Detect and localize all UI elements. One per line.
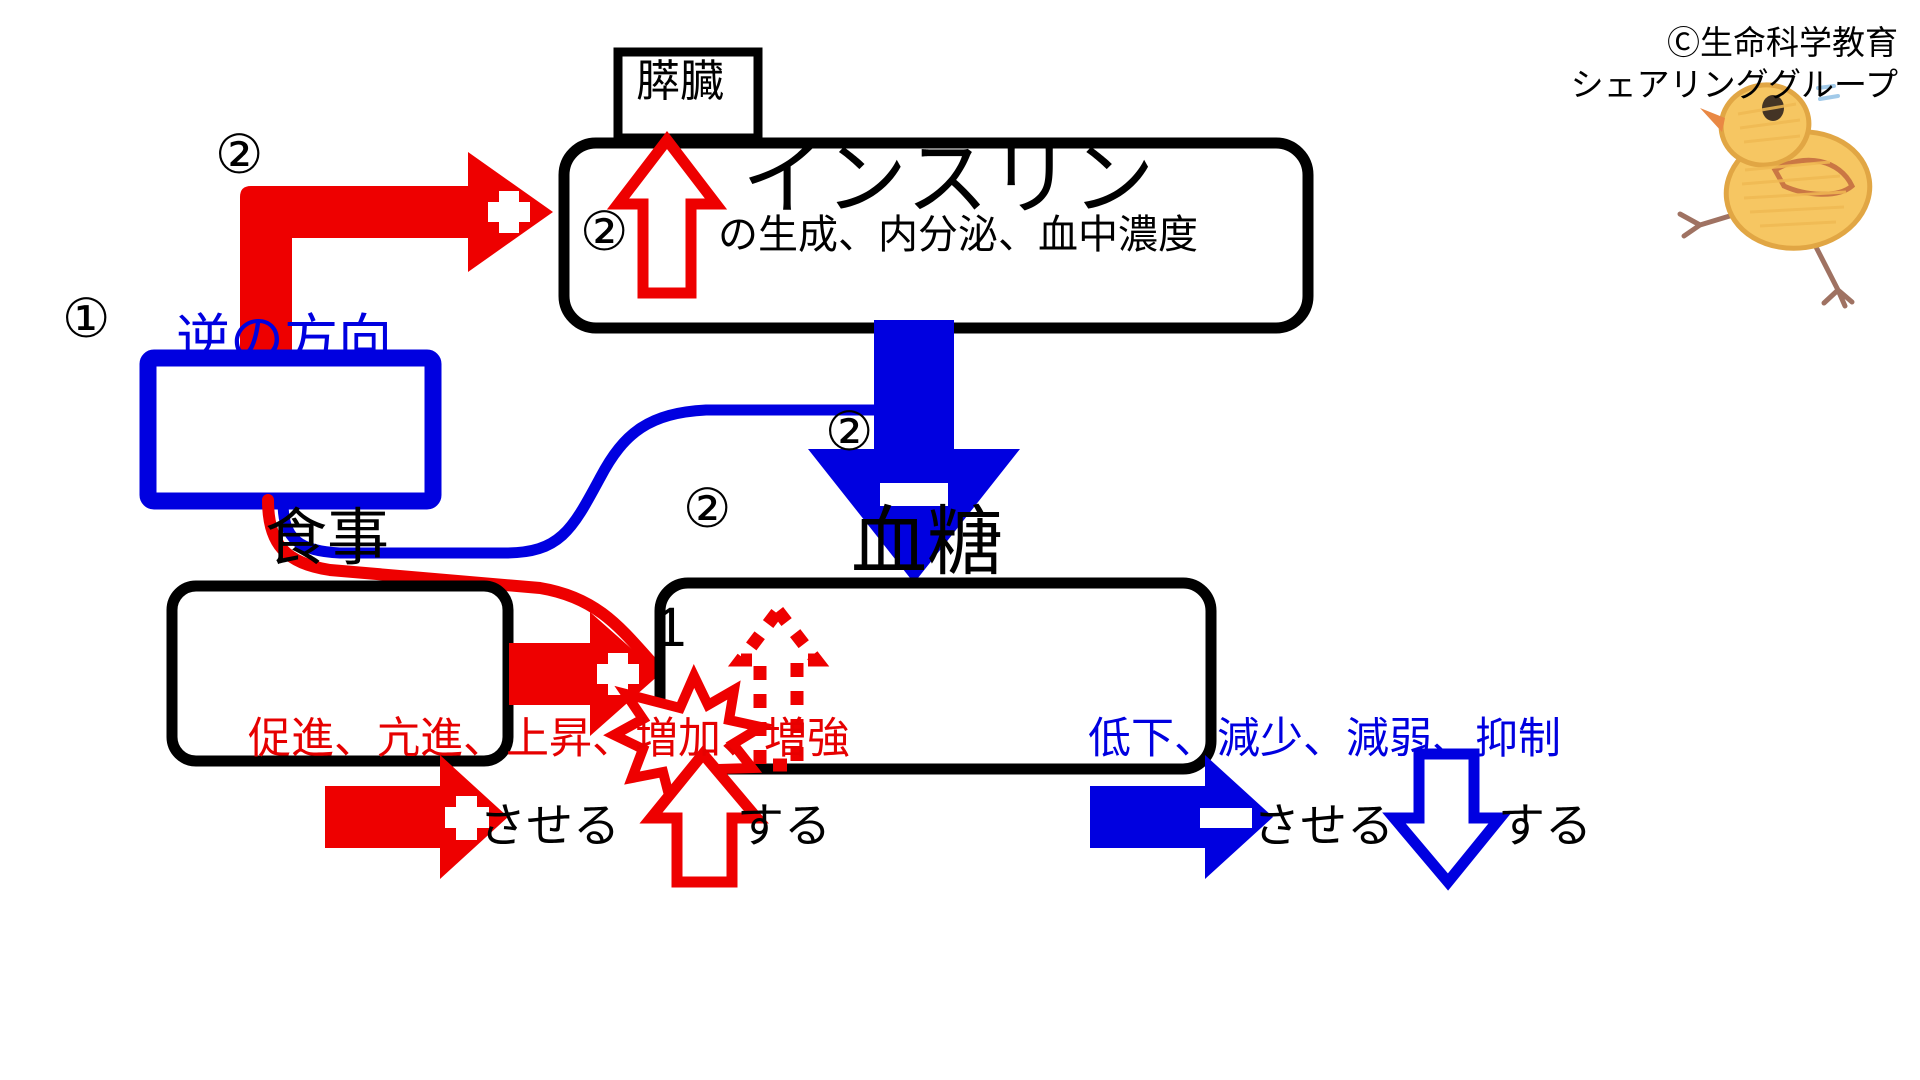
meal-label: 食事 bbox=[265, 508, 389, 570]
insulin-subtitle: の生成、内分泌、血中濃度 bbox=[718, 215, 1198, 255]
marker-blue-down-arrow: ② bbox=[825, 405, 873, 459]
legend-negative-cause-label: させる bbox=[1253, 802, 1394, 849]
diagram-canvas: Ⓒ生命科学教育 シェアリンググループ 膵臓 インスリン の生成、内分泌、血中濃度… bbox=[0, 0, 1920, 1080]
marker-insulin-increase: ② bbox=[580, 205, 628, 259]
marker-glucose-increase: ② bbox=[683, 482, 731, 536]
marker-red-elbow: ② bbox=[215, 128, 263, 182]
reverse-direction-label: 逆の方向 bbox=[176, 313, 392, 367]
pancreas-label: 膵臓 bbox=[636, 60, 724, 104]
insulin-title: インスリン bbox=[742, 139, 1155, 221]
copyright-line-2: シェアリンググループ bbox=[1571, 64, 1898, 106]
diagram-text: Ⓒ生命科学教育 シェアリンググループ 膵臓 インスリン の生成、内分泌、血中濃度… bbox=[0, 0, 1920, 1080]
copyright-line-1: Ⓒ生命科学教育 bbox=[1571, 22, 1898, 64]
legend-positive-cause-label: させる bbox=[479, 802, 620, 849]
copyright-notice: Ⓒ生命科学教育 シェアリンググループ bbox=[1571, 22, 1898, 106]
legend-positive-state-label: する bbox=[737, 802, 831, 849]
glucose-label: 血糖 bbox=[851, 505, 1003, 581]
legend-negative-heading: 低下、減少、減弱、抑制 bbox=[1088, 718, 1561, 761]
marker-reverse-direction: ① bbox=[62, 292, 110, 346]
legend-negative-state-label: する bbox=[1498, 802, 1592, 849]
legend-positive-heading: 促進、亢進、上昇、増加、増強 bbox=[248, 718, 850, 761]
star-burst-number: 1 bbox=[655, 594, 686, 659]
